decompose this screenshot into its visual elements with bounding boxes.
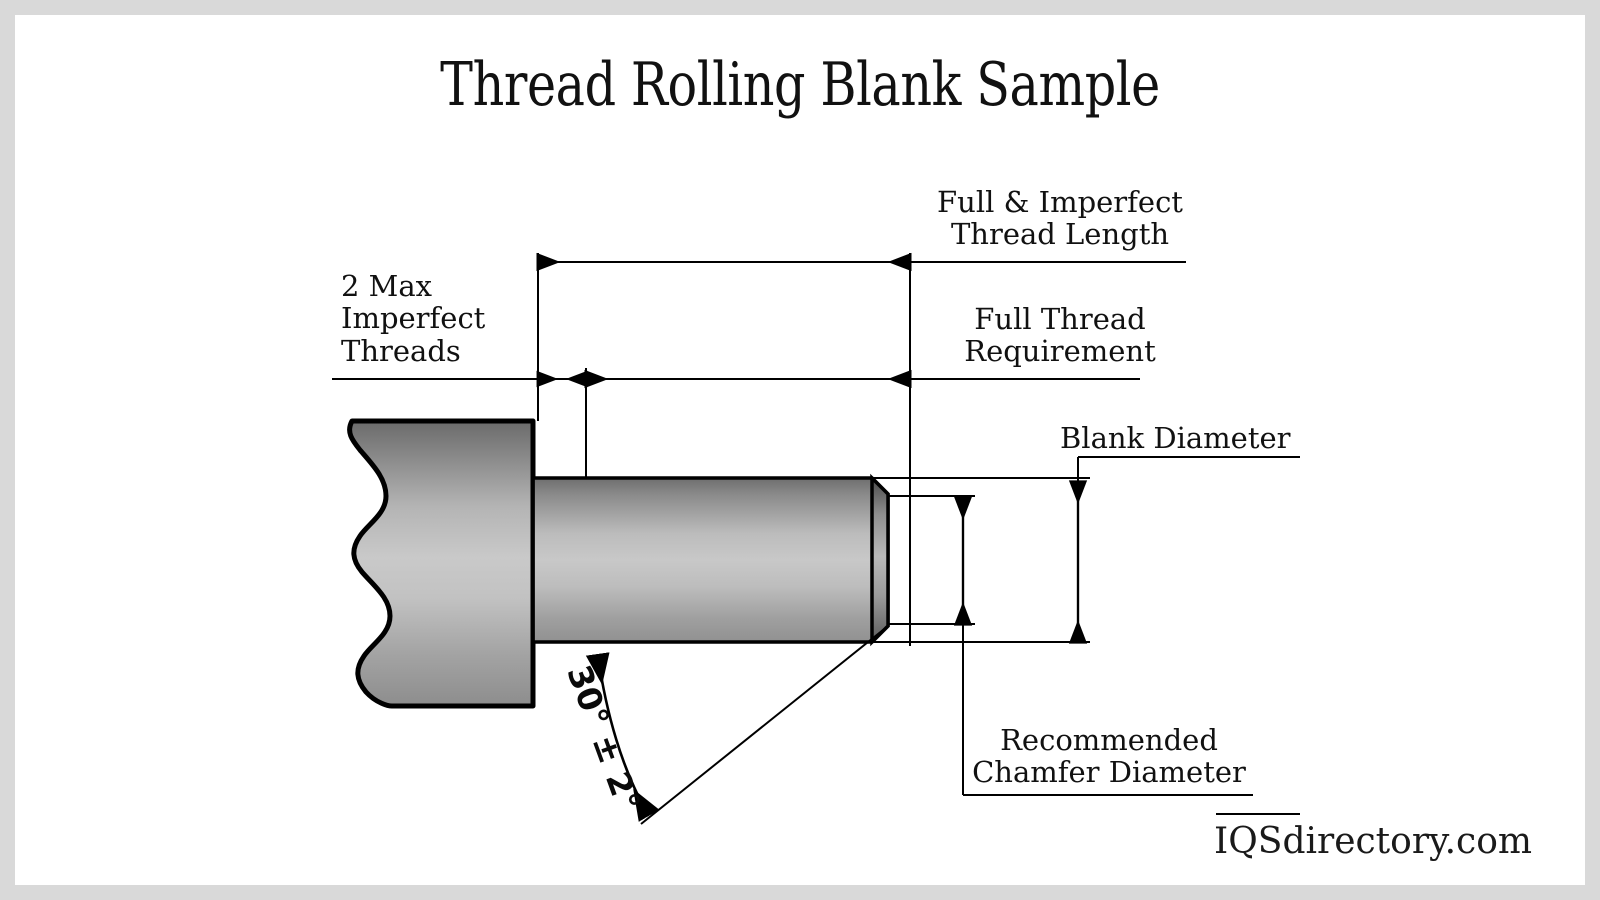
label-blank-diameter: Blank Diameter [1060, 422, 1291, 454]
chamfer-angle-reference-line [641, 626, 888, 824]
label-full-thread-requirement: Full Thread Requirement [860, 303, 1260, 368]
chamfer-end-face [872, 478, 888, 642]
diagram-page: Thread Rolling Blank Sample Full & Imper… [0, 0, 1600, 900]
head-break-profile [350, 421, 533, 706]
thread-rolling-blank-drawing [0, 0, 1600, 900]
page-title: Thread Rolling Blank Sample [144, 52, 1456, 119]
label-full-and-imperfect-thread-length: Full & Imperfect Thread Length [860, 186, 1260, 251]
brand-watermark: IQSdirectory.com [1000, 822, 1532, 862]
blank-shaft [533, 478, 888, 642]
label-recommended-chamfer-diameter: Recommended Chamfer Diameter [963, 724, 1255, 789]
dimension-blank-diameter [872, 457, 1300, 642]
blank-head [350, 421, 533, 706]
shaft-body [533, 478, 888, 642]
label-two-max-imperfect-threads: 2 Max Imperfect Threads [341, 270, 485, 367]
